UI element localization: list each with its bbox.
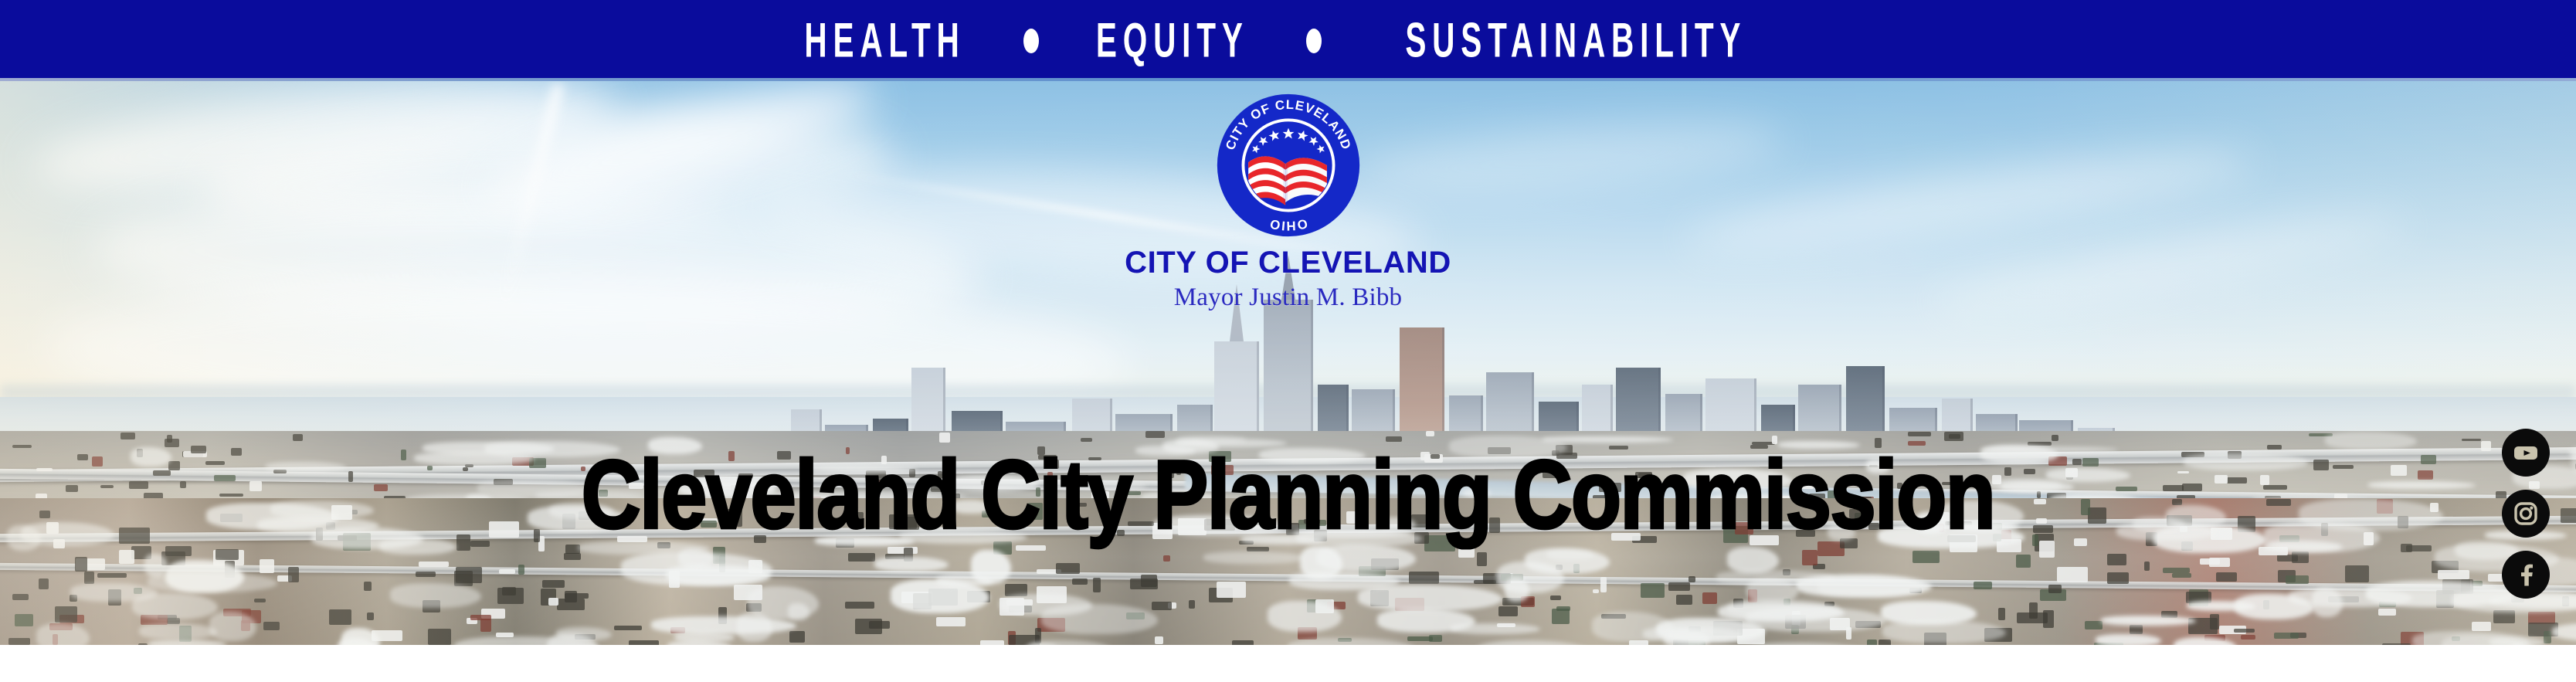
snow-patch [651, 616, 796, 634]
building-roof [1072, 579, 1087, 585]
snow-patch [390, 583, 481, 608]
snow-patch [2174, 637, 2237, 645]
building-roof [499, 569, 515, 573]
snow-patch [148, 640, 226, 645]
building-roof [1552, 609, 1570, 624]
building-roof [518, 565, 524, 575]
building-roof [2048, 585, 2061, 594]
facebook-link[interactable] [2502, 551, 2550, 599]
building-roof [1912, 551, 1940, 563]
building-roof [2029, 602, 2038, 619]
tagline-word-equity: EQUITY [1096, 16, 1249, 65]
building-roof [614, 626, 642, 629]
building-roof [1593, 589, 1599, 593]
building-roof [2472, 622, 2491, 631]
building-roof [845, 602, 874, 609]
snow-patch [2101, 616, 2196, 625]
snow-patch [556, 627, 613, 640]
snow-patch [144, 554, 167, 577]
building-roof [2274, 633, 2299, 640]
snow-patch [1289, 572, 1400, 590]
building-roof [1130, 579, 1158, 589]
snow-patch [1041, 604, 1158, 635]
snow-patch [737, 612, 772, 642]
building-roof [2292, 551, 2309, 563]
building-roof [2241, 635, 2255, 640]
tagline-band: HEALTH EQUITY SUSTAINABILITY [0, 0, 2576, 81]
building-roof [548, 598, 559, 606]
building-roof [855, 619, 882, 634]
building-roof [288, 567, 298, 582]
instagram-icon [2510, 498, 2541, 529]
building-roof [1155, 636, 1164, 644]
building-roof [1056, 563, 1080, 574]
building-roof [2043, 610, 2054, 628]
youtube-link[interactable] [2502, 429, 2550, 477]
building-roof [480, 619, 491, 631]
building-roof [1477, 552, 1487, 567]
snow-patch [36, 623, 90, 645]
building-roof [1189, 600, 1196, 609]
building-roof [1498, 606, 1518, 616]
building-roof [416, 572, 436, 577]
snow-patch [1497, 562, 1564, 593]
tagline-word-sustainability: SUSTAINABILITY [1405, 16, 1746, 65]
building-roof [84, 572, 94, 584]
tagline-row: HEALTH EQUITY SUSTAINABILITY [782, 21, 1794, 61]
building-roof [2172, 573, 2191, 578]
building-roof [165, 546, 192, 556]
building-roof [936, 617, 965, 626]
snow-patch [209, 612, 256, 641]
building-roof [2144, 562, 2150, 570]
building-roof [1802, 550, 1817, 565]
snow-patch [1592, 612, 1673, 642]
building-roof [789, 631, 804, 643]
building-roof [1429, 635, 1442, 642]
building-roof [1676, 595, 1692, 605]
building-roof [2493, 610, 2516, 623]
building-roof [39, 579, 49, 589]
youtube-icon [2510, 437, 2541, 468]
building-roof [1998, 608, 2005, 620]
snow-patch [2366, 581, 2517, 607]
city-detail [1145, 431, 1165, 438]
building-roof [1556, 606, 1570, 611]
building-roof [8, 638, 30, 645]
building-roof [542, 580, 565, 588]
snow-patch [2096, 634, 2161, 645]
banner-stage: HEALTH EQUITY SUSTAINABILITY [0, 0, 2576, 682]
facebook-icon [2510, 559, 2541, 590]
snow-patch [1288, 638, 1414, 645]
building-roof [2057, 567, 2087, 582]
building-roof [2378, 609, 2396, 615]
building-roof [419, 562, 449, 567]
building-roof [454, 571, 473, 586]
snow-patch [165, 560, 244, 592]
snow-patch [1727, 599, 1840, 619]
building-roof [15, 614, 34, 626]
building-roof [1474, 580, 1496, 584]
social-links [2502, 429, 2550, 599]
tagline-word-health: HEALTH [804, 16, 965, 65]
snow-patch [70, 583, 157, 602]
city-detail [1426, 431, 1434, 436]
building-roof [848, 553, 875, 562]
building-roof [1867, 640, 1877, 645]
building-roof [1688, 576, 1695, 582]
instagram-link[interactable] [2502, 490, 2550, 538]
building-roof [1668, 582, 1690, 591]
building-roof [1641, 583, 1665, 598]
bottom-white-strip [0, 645, 2576, 682]
building-roof [1217, 582, 1246, 598]
snow-patch [1203, 551, 1305, 564]
building-roof [1093, 578, 1100, 592]
building-roof [1702, 592, 1716, 604]
building-roof [564, 553, 581, 560]
city-detail [2052, 435, 2059, 440]
tagline-separator-dot-2 [1306, 29, 1322, 53]
building-roof [364, 582, 372, 591]
building-roof [260, 559, 274, 572]
city-detail [2462, 439, 2480, 441]
building-roof [75, 557, 88, 572]
snow-patch [971, 550, 1011, 584]
building-roof [2130, 625, 2142, 634]
building-roof [565, 593, 589, 599]
page-title: Cleveland City Planning Commission [19, 446, 2557, 543]
building-roof [2163, 568, 2191, 574]
building-roof [2234, 629, 2254, 633]
building-roof [2085, 621, 2103, 630]
city-name-label: CITY OF CLEVELAND [1125, 247, 1451, 278]
building-roof [2438, 570, 2469, 579]
snow-patch [874, 557, 949, 572]
building-roof [97, 573, 127, 578]
snow-patch [1451, 623, 1540, 634]
snow-patch [1268, 601, 1341, 632]
building-roof [2016, 555, 2031, 568]
building-roof [119, 550, 134, 564]
snow-patch [788, 603, 809, 620]
building-roof [497, 588, 524, 604]
building-roof [12, 594, 29, 600]
city-detail [120, 433, 135, 439]
snow-patch [1727, 547, 1779, 573]
city-of-cleveland-seal-icon: CITY OF CLEVELAND OHIO [1214, 91, 1363, 239]
building-roof [2286, 575, 2308, 584]
building-roof [1550, 595, 1561, 600]
building-roof [1974, 582, 1992, 590]
building-roof [2107, 554, 2126, 566]
building-roof [329, 609, 351, 625]
building-roof [2216, 572, 2238, 581]
snow-patch [139, 623, 217, 640]
building-roof [254, 599, 266, 603]
city-identity-block: CITY OF CLEVELAND OHIO CITY OF CLEVELAND… [0, 91, 2576, 310]
building-roof [1409, 572, 1440, 584]
mayor-name-label: Mayor Justin M. Bibb [1174, 285, 1403, 310]
building-roof [2561, 508, 2576, 523]
snow-patch [1882, 620, 2006, 643]
city-detail [293, 434, 303, 442]
building-roof [1600, 577, 1607, 592]
snow-patch [666, 565, 771, 585]
city-detail [1908, 432, 1931, 436]
building-roof [2107, 572, 2129, 584]
building-roof [1163, 555, 1170, 562]
building-roof [367, 612, 374, 620]
building-roof [470, 615, 491, 620]
snow-patch [2312, 588, 2344, 616]
building-roof [1152, 602, 1173, 610]
building-roof [216, 549, 239, 559]
snow-patch [1796, 575, 1932, 598]
tagline-separator-dot-1 [1023, 29, 1039, 53]
snow-patch [2187, 601, 2255, 611]
building-roof [1879, 640, 1891, 645]
building-roof [55, 606, 77, 623]
building-roof [428, 629, 451, 645]
building-roof [263, 622, 280, 630]
building-roof [2345, 565, 2369, 582]
building-roof [2200, 558, 2220, 565]
building-roof [2401, 544, 2412, 552]
